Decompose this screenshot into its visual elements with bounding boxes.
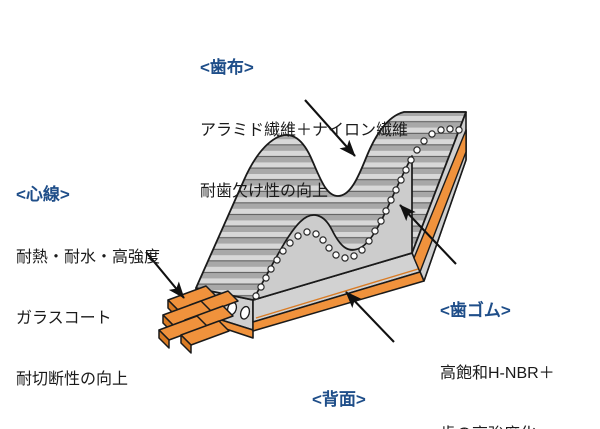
callout-tooth-rubber-line-2: 歯の高強度化: [440, 425, 555, 429]
callout-back-heading: <背面>: [312, 389, 440, 411]
callout-back: <背面> イメージカラーの パープルで着色: [312, 348, 440, 429]
callout-cord: <心線> 耐熱・耐水・高強度 ガラスコート 耐切断性の向上: [16, 143, 160, 429]
callout-tooth-cloth: <歯布> アラミド繊維＋ナイロン繊維 耐歯欠け性の向上: [200, 16, 408, 243]
callout-cord-line-1: 耐熱・耐水・高強度: [16, 248, 160, 268]
diagram-canvas: <歯布> アラミド繊維＋ナイロン繊維 耐歯欠け性の向上 <心線> 耐熱・耐水・高…: [0, 0, 600, 429]
callout-cord-line-2: ガラスコート: [16, 309, 160, 329]
callout-tooth-cloth-line-2: 耐歯欠け性の向上: [200, 182, 408, 202]
arrow-to-back: [346, 292, 394, 342]
callout-cord-line-3: 耐切断性の向上: [16, 370, 160, 390]
callout-tooth-rubber-heading: <歯ゴム>: [440, 300, 555, 322]
callout-tooth-cloth-line-1: アラミド繊維＋ナイロン繊維: [200, 121, 408, 141]
callout-tooth-rubber-line-1: 高飽和H-NBR＋: [440, 364, 555, 384]
callout-cord-heading: <心線>: [16, 184, 160, 206]
callout-tooth-cloth-heading: <歯布>: [200, 57, 408, 79]
callout-tooth-rubber: <歯ゴム> 高飽和H-NBR＋ 歯の高強度化: [440, 259, 555, 429]
